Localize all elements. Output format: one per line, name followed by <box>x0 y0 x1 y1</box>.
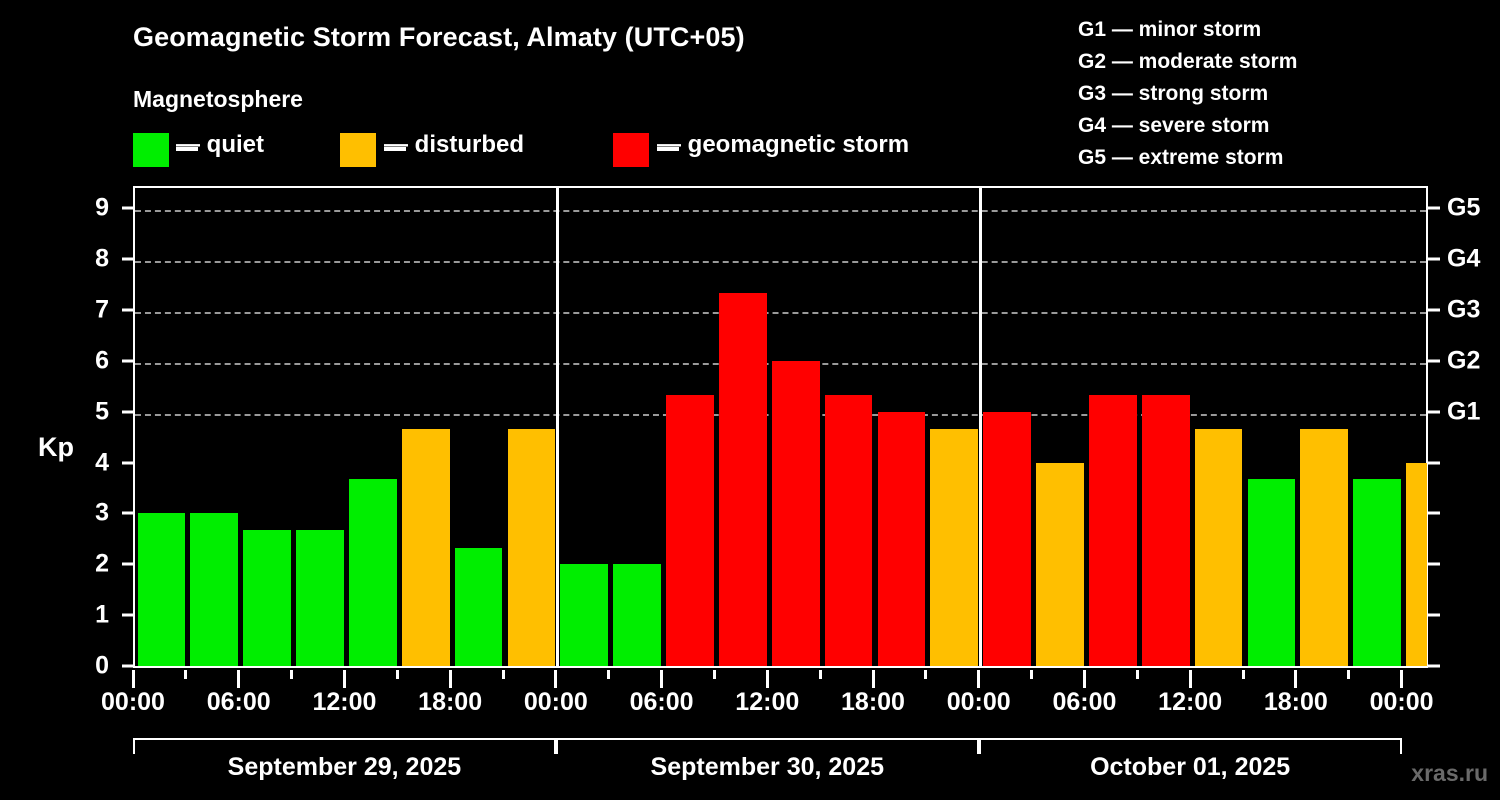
day-bracket <box>556 738 979 754</box>
bar <box>349 479 397 666</box>
g-tick-label: G3 <box>1447 296 1480 325</box>
bar <box>1036 463 1084 666</box>
y-tick <box>122 563 133 566</box>
y-tick <box>122 410 133 413</box>
bar <box>1300 429 1348 666</box>
x-tick-minor <box>502 670 505 679</box>
storm-swatch <box>613 133 649 167</box>
g-tick <box>1428 359 1440 362</box>
g-scale-row: G4 — severe storm <box>1078 110 1297 142</box>
bar <box>1089 395 1137 666</box>
x-tick-label: 12:00 <box>735 688 799 717</box>
disturbed-swatch <box>340 133 376 167</box>
x-tick-major <box>1189 670 1192 688</box>
quiet-swatch <box>133 133 169 167</box>
x-tick-label: 00:00 <box>1370 688 1434 717</box>
g-scale-row: G2 — moderate storm <box>1078 46 1297 78</box>
x-tick-major <box>872 670 875 688</box>
y-tick-label: 0 <box>75 652 109 681</box>
watermark: xras.ru <box>1411 760 1488 787</box>
bar <box>719 293 767 666</box>
day-divider <box>979 188 982 666</box>
bar <box>1353 479 1401 666</box>
x-tick-major <box>554 670 557 688</box>
x-tick-minor <box>396 670 399 679</box>
bar <box>878 412 926 666</box>
y-tick-label: 4 <box>75 448 109 477</box>
chart-root: Geomagnetic Storm Forecast, Almaty (UTC+… <box>0 0 1500 800</box>
bar <box>190 513 238 666</box>
x-tick-label: 06:00 <box>630 688 694 717</box>
x-tick-label: 18:00 <box>1264 688 1328 717</box>
y-tick-label: 8 <box>75 245 109 274</box>
y-tick-label: 2 <box>75 550 109 579</box>
g-scale-row: G3 — strong storm <box>1078 78 1297 110</box>
g-tick-label: G4 <box>1447 245 1480 274</box>
g-tick-minor <box>1428 614 1440 617</box>
day-label: September 29, 2025 <box>228 753 461 782</box>
g-scale-row: G5 — extreme storm <box>1078 142 1297 174</box>
y-tick-label: 5 <box>75 397 109 426</box>
bar <box>296 530 344 666</box>
g-tick-label: G1 <box>1447 397 1480 426</box>
g-tick-minor <box>1428 563 1440 566</box>
bar <box>613 564 661 666</box>
legend-label: — disturbed <box>384 131 524 159</box>
x-tick-major <box>977 670 980 688</box>
gridline <box>135 210 1426 212</box>
y-tick-label: 1 <box>75 601 109 630</box>
bar <box>138 513 186 666</box>
x-tick-label: 06:00 <box>1052 688 1116 717</box>
legend-label: — geomagnetic storm <box>657 131 909 159</box>
g-scale-legend: G1 — minor stormG2 — moderate stormG3 — … <box>1078 14 1297 174</box>
g-scale-row: G1 — minor storm <box>1078 14 1297 46</box>
bar <box>1195 429 1243 666</box>
bar <box>243 530 291 666</box>
x-tick-label: 00:00 <box>524 688 588 717</box>
y-tick <box>122 461 133 464</box>
plot-area <box>133 186 1428 668</box>
y-tick <box>122 614 133 617</box>
g-tick-minor <box>1428 461 1440 464</box>
x-tick-minor <box>1347 670 1350 679</box>
x-tick-label: 00:00 <box>101 688 165 717</box>
y-tick-label: 7 <box>75 296 109 325</box>
x-tick-minor <box>713 670 716 679</box>
y-tick <box>122 665 133 668</box>
y-axis-title: Kp <box>38 432 74 463</box>
g-tick-label: G2 <box>1447 346 1480 375</box>
legend-label: — quiet <box>176 131 264 159</box>
bar <box>402 429 450 666</box>
x-tick-label: 06:00 <box>207 688 271 717</box>
bar <box>666 395 714 666</box>
g-tick-label: G5 <box>1447 194 1480 223</box>
g-tick <box>1428 410 1440 413</box>
day-label: September 30, 2025 <box>651 753 884 782</box>
x-tick-minor <box>290 670 293 679</box>
y-tick <box>122 359 133 362</box>
x-tick-label: 12:00 <box>1158 688 1222 717</box>
x-tick-minor <box>924 670 927 679</box>
y-tick <box>122 207 133 210</box>
day-bracket <box>133 738 556 754</box>
x-tick-major <box>1083 670 1086 688</box>
x-tick-label: 18:00 <box>418 688 482 717</box>
bar <box>455 548 503 666</box>
x-tick-minor <box>819 670 822 679</box>
x-tick-minor <box>1242 670 1245 679</box>
page-title: Geomagnetic Storm Forecast, Almaty (UTC+… <box>133 22 745 53</box>
bar <box>1142 395 1190 666</box>
bar <box>508 429 556 666</box>
x-tick-label: 18:00 <box>841 688 905 717</box>
y-tick <box>122 258 133 261</box>
x-tick-major <box>1294 670 1297 688</box>
x-tick-minor <box>607 670 610 679</box>
gridline <box>135 312 1426 314</box>
g-tick <box>1428 258 1440 261</box>
bar <box>930 429 978 666</box>
y-tick <box>122 512 133 515</box>
g-tick <box>1428 207 1440 210</box>
day-label: October 01, 2025 <box>1090 753 1290 782</box>
bar <box>1248 479 1296 666</box>
day-divider <box>556 188 559 666</box>
x-tick-major <box>1400 670 1403 688</box>
g-tick-minor <box>1428 512 1440 515</box>
y-tick-label: 6 <box>75 346 109 375</box>
g-tick <box>1428 309 1440 312</box>
y-tick-label: 9 <box>75 194 109 223</box>
y-tick-label: 3 <box>75 499 109 528</box>
section-label: Magnetosphere <box>133 86 303 113</box>
x-tick-minor <box>184 670 187 679</box>
x-tick-label: 12:00 <box>312 688 376 717</box>
bar <box>983 412 1031 666</box>
bar <box>825 395 873 666</box>
x-tick-major <box>237 670 240 688</box>
x-tick-major <box>449 670 452 688</box>
bar <box>772 361 820 666</box>
x-tick-minor <box>1136 670 1139 679</box>
x-tick-major <box>132 670 135 688</box>
y-tick <box>122 309 133 312</box>
x-tick-major <box>343 670 346 688</box>
bar <box>1406 463 1427 666</box>
x-tick-label: 00:00 <box>947 688 1011 717</box>
g-tick-minor <box>1428 665 1440 668</box>
x-tick-major <box>766 670 769 688</box>
x-tick-minor <box>1030 670 1033 679</box>
bar <box>560 564 608 666</box>
gridline <box>135 261 1426 263</box>
x-tick-major <box>660 670 663 688</box>
day-bracket <box>979 738 1402 754</box>
